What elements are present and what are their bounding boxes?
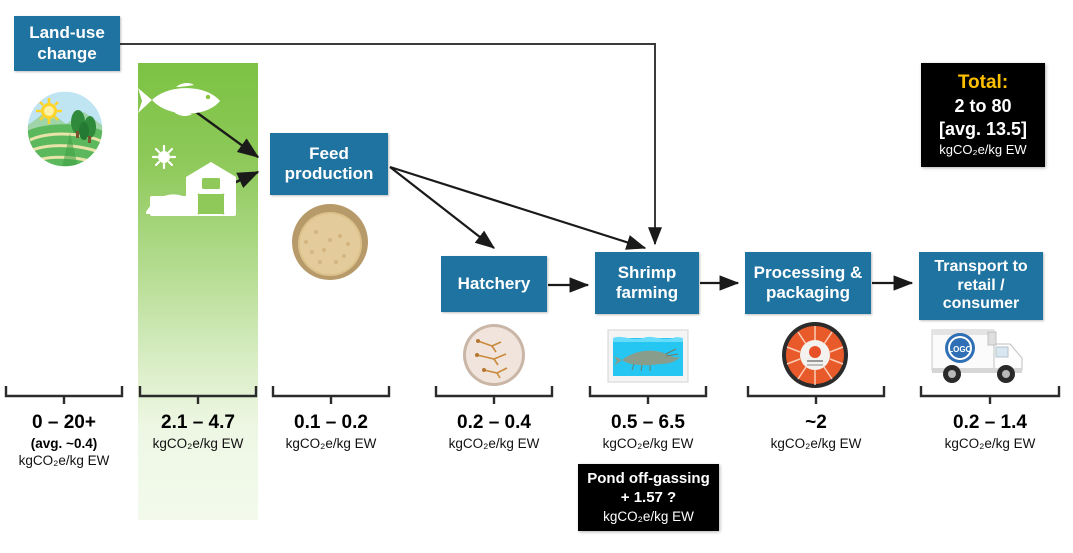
shrimp-in-pond-icon bbox=[608, 330, 688, 382]
stage-value: ~2 bbox=[752, 411, 880, 435]
node-feed-production[interactable]: Feed production bbox=[270, 133, 388, 195]
stage-label-hatchery: 0.2 – 0.4 kgCO₂e/kg EW bbox=[430, 411, 558, 453]
feed-pellet-bowl-icon bbox=[292, 204, 368, 280]
arrow-feed-to-hatchery bbox=[390, 167, 494, 248]
arrow-fish-to-feed bbox=[196, 112, 258, 157]
refrigerated-truck-icon: LOGO bbox=[932, 330, 1022, 383]
node-shrimp-farming-label: Shrimp farming bbox=[595, 263, 699, 303]
stage-note: (avg. ~0.4) bbox=[0, 435, 128, 453]
stage-value: 0 – 20+ bbox=[0, 411, 128, 435]
fish-icon bbox=[138, 83, 220, 116]
stage-label-feed-inputs: 2.1 – 4.7 kgCO₂e/kg EW bbox=[134, 411, 262, 453]
total-callout: Total: 2 to 80 [avg. 13.5] kgCO₂e/kg EW bbox=[921, 63, 1045, 167]
node-land-use-change-label: Land-use change bbox=[14, 23, 120, 63]
node-hatchery[interactable]: Hatchery bbox=[441, 256, 547, 312]
total-heading: Total: bbox=[958, 71, 1008, 95]
stage-value: 2.1 – 4.7 bbox=[134, 411, 262, 435]
cooked-shrimp-ring-icon bbox=[782, 322, 848, 388]
node-feed-production-label: Feed production bbox=[270, 144, 388, 184]
total-range: 2 to 80 bbox=[954, 95, 1011, 118]
stage-label-processing: ~2 kgCO₂e/kg EW bbox=[752, 411, 880, 453]
pond-offgassing-title: Pond off-gassing bbox=[587, 469, 710, 489]
stage-unit: kgCO₂e/kg EW bbox=[584, 435, 712, 453]
stage-value: 0.2 – 1.4 bbox=[926, 411, 1054, 435]
pond-offgassing-callout: Pond off-gassing + 1.57 ? kgCO₂e/kg EW bbox=[578, 464, 719, 531]
arrow-feed-to-shrimp bbox=[390, 167, 645, 248]
stage-value: 0.5 – 6.5 bbox=[584, 411, 712, 435]
stage-unit: kgCO₂e/kg EW bbox=[926, 435, 1054, 453]
shrimp-larvae-dish-icon bbox=[463, 324, 525, 386]
diagram-canvas: LOGO Land-use change Feed production Hat… bbox=[0, 0, 1073, 553]
total-unit: kgCO₂e/kg EW bbox=[939, 141, 1026, 159]
svg-text:LOGO: LOGO bbox=[948, 345, 972, 354]
stage-value: 0.1 – 0.2 bbox=[267, 411, 395, 435]
stage-unit: kgCO₂e/kg EW bbox=[267, 435, 395, 453]
stage-unit: kgCO₂e/kg EW bbox=[134, 435, 262, 453]
node-transport-label: Transport to retail / consumer bbox=[919, 258, 1043, 315]
stage-label-feed-production: 0.1 – 0.2 kgCO₂e/kg EW bbox=[267, 411, 395, 453]
node-processing-packaging[interactable]: Processing & packaging bbox=[745, 252, 871, 314]
node-processing-packaging-label: Processing & packaging bbox=[745, 263, 871, 303]
total-average: [avg. 13.5] bbox=[939, 118, 1027, 141]
stage-brackets bbox=[6, 386, 1059, 404]
stage-label-shrimp-farming: 0.5 – 6.5 kgCO₂e/kg EW bbox=[584, 411, 712, 453]
stage-unit: kgCO₂e/kg EW bbox=[752, 435, 880, 453]
node-land-use-change[interactable]: Land-use change bbox=[14, 16, 120, 71]
pond-offgassing-value: + 1.57 ? bbox=[621, 488, 676, 508]
stage-unit: kgCO₂e/kg EW bbox=[430, 435, 558, 453]
stage-unit: kgCO₂e/kg EW bbox=[0, 452, 128, 470]
node-transport[interactable]: Transport to retail / consumer bbox=[919, 252, 1043, 320]
farm-landscape-icon bbox=[27, 91, 103, 167]
stage-label-transport: 0.2 – 1.4 kgCO₂e/kg EW bbox=[926, 411, 1054, 453]
stage-label-land-use-change: 0 – 20+ (avg. ~0.4) kgCO₂e/kg EW bbox=[0, 411, 128, 471]
stage-value: 0.2 – 0.4 bbox=[430, 411, 558, 435]
pond-offgassing-unit: kgCO₂e/kg EW bbox=[603, 508, 694, 526]
node-shrimp-farming[interactable]: Shrimp farming bbox=[595, 252, 699, 314]
node-hatchery-label: Hatchery bbox=[458, 274, 531, 294]
